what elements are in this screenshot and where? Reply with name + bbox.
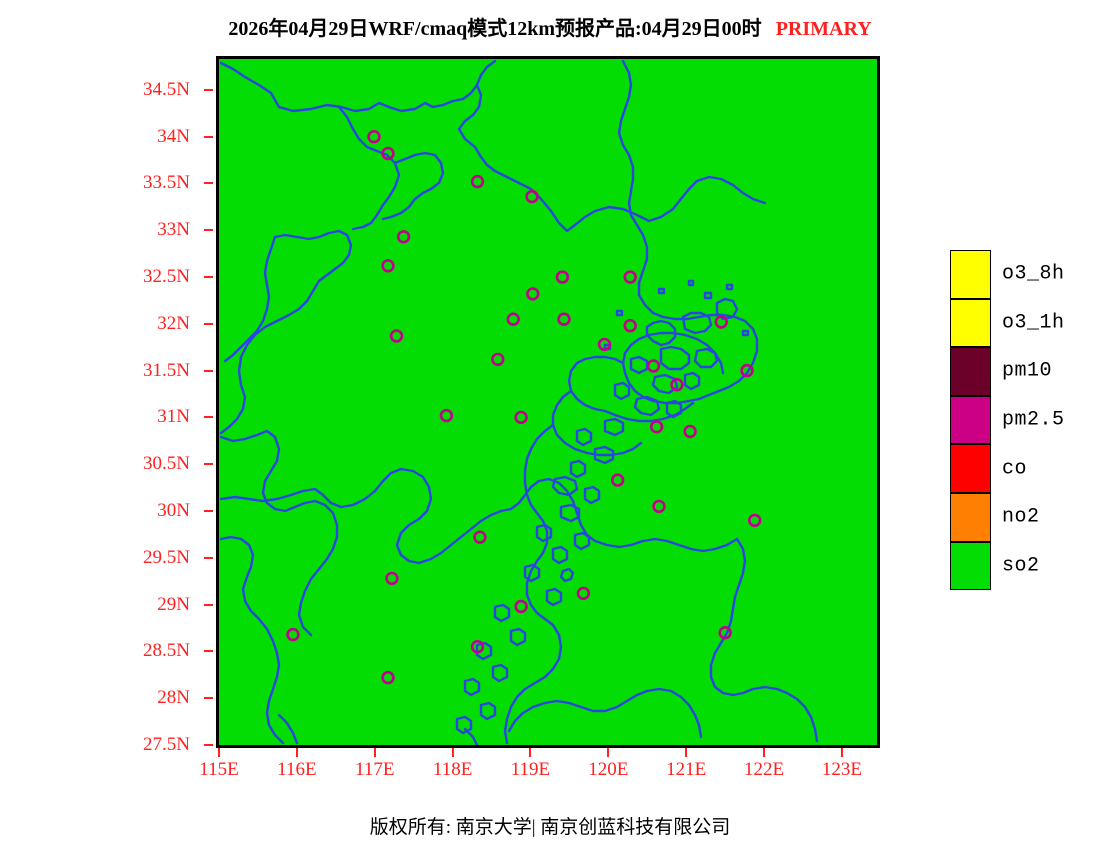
station-marker[interactable]	[516, 412, 527, 423]
page-title-tag: PRIMARY	[776, 18, 872, 40]
station-marker[interactable]	[472, 176, 483, 187]
station-marker[interactable]	[625, 320, 636, 331]
x-axis-tick	[607, 748, 609, 757]
legend-color-swatch	[950, 542, 991, 591]
station-marker[interactable]	[685, 426, 696, 437]
map-canvas	[219, 59, 877, 745]
y-axis-label: 27.5N	[104, 735, 190, 754]
station-marker[interactable]	[383, 672, 394, 683]
x-axis-label: 118E	[413, 760, 493, 779]
y-axis-tick	[204, 229, 213, 231]
station-marker[interactable]	[559, 314, 570, 325]
station-marker[interactable]	[654, 501, 665, 512]
legend-item-so2[interactable]: so2	[950, 542, 1100, 591]
y-axis-tick	[204, 89, 213, 91]
y-axis-label: 30N	[104, 501, 190, 520]
x-axis-tick	[374, 748, 376, 757]
y-axis-tick	[204, 604, 213, 606]
station-marker[interactable]	[508, 314, 519, 325]
station-marker[interactable]	[648, 361, 659, 372]
station-marker[interactable]	[651, 421, 662, 432]
y-axis-label: 31N	[104, 407, 190, 426]
map-plot-area[interactable]	[216, 56, 880, 748]
legend-color-swatch	[950, 396, 991, 445]
legend-color-swatch	[950, 250, 991, 299]
y-axis-tick	[204, 697, 213, 699]
y-axis-tick	[204, 463, 213, 465]
station-marker[interactable]	[516, 601, 527, 612]
station-marker[interactable]	[441, 410, 452, 421]
legend-item-pm10[interactable]: pm10	[950, 347, 1100, 396]
station-marker[interactable]	[288, 629, 299, 640]
station-marker[interactable]	[612, 475, 623, 486]
legend-label: pm2.5	[1002, 409, 1065, 432]
y-axis-label: 34N	[104, 127, 190, 146]
x-axis-label: 116E	[257, 760, 337, 779]
legend-item-o3-8h[interactable]: o3_8h	[950, 250, 1100, 299]
y-axis-tick	[204, 510, 213, 512]
station-marker[interactable]	[383, 260, 394, 271]
y-axis-label: 32.5N	[104, 267, 190, 286]
legend-color-swatch	[950, 444, 991, 493]
legend-color-swatch	[950, 493, 991, 542]
legend-item-o3-1h[interactable]: o3_1h	[950, 299, 1100, 348]
legend-label: so2	[1002, 554, 1040, 577]
y-axis-label: 30.5N	[104, 454, 190, 473]
legend-label: o3_1h	[1002, 311, 1065, 334]
y-axis-tick	[204, 276, 213, 278]
station-marker[interactable]	[391, 331, 402, 342]
y-axis-label: 28.5N	[104, 641, 190, 660]
station-marker[interactable]	[749, 515, 760, 526]
station-marker[interactable]	[625, 272, 636, 283]
forecast-map-page: 2026年04月29日WRF/cmaq模式12km预报产品:04月29日00时P…	[0, 0, 1100, 850]
copyright-footer: 版权所有: 南京大学| 南京创蓝科技有限公司	[0, 812, 1100, 839]
y-axis-label: 29.5N	[104, 548, 190, 567]
station-marker[interactable]	[369, 131, 380, 142]
y-axis-tick	[204, 416, 213, 418]
x-axis-tick	[685, 748, 687, 757]
legend-label: no2	[1002, 506, 1040, 529]
x-axis-label: 121E	[646, 760, 726, 779]
x-axis-tick	[841, 748, 843, 757]
x-axis-label: 123E	[802, 760, 882, 779]
legend-color-swatch	[950, 299, 991, 348]
x-axis-label: 122E	[724, 760, 804, 779]
y-axis-tick	[204, 136, 213, 138]
y-axis-tick	[204, 182, 213, 184]
legend-label: co	[1002, 457, 1027, 480]
y-axis-label: 32N	[104, 314, 190, 333]
legend-color-swatch	[950, 347, 991, 396]
station-marker[interactable]	[527, 191, 538, 202]
y-axis-label: 29N	[104, 595, 190, 614]
legend-item-pm2-5[interactable]: pm2.5	[950, 396, 1100, 445]
y-axis-label: 34.5N	[104, 80, 190, 99]
legend-item-no2[interactable]: no2	[950, 493, 1100, 542]
station-marker[interactable]	[492, 354, 503, 365]
page-title: 2026年04月29日WRF/cmaq模式12km预报产品:04月29日00时P…	[0, 12, 1100, 41]
x-axis-label: 119E	[490, 760, 570, 779]
x-axis-label: 115E	[179, 760, 259, 779]
x-axis-tick	[218, 748, 220, 757]
x-axis-tick	[452, 748, 454, 757]
geographic-boundaries	[221, 61, 817, 745]
page-title-main: 2026年04月29日WRF/cmaq模式12km预报产品:04月29日00时	[228, 18, 761, 40]
legend-item-co[interactable]: co	[950, 444, 1100, 493]
y-axis-tick	[204, 557, 213, 559]
y-axis-label: 31.5N	[104, 361, 190, 380]
station-marker[interactable]	[387, 573, 398, 584]
x-axis-tick	[763, 748, 765, 757]
y-axis-label: 33.5N	[104, 173, 190, 192]
y-axis-tick	[204, 744, 213, 746]
x-axis-tick	[296, 748, 298, 757]
legend-label: pm10	[1002, 360, 1052, 383]
x-axis-label: 117E	[335, 760, 415, 779]
station-marker[interactable]	[475, 532, 486, 543]
x-axis-label: 120E	[568, 760, 648, 779]
x-axis-tick	[529, 748, 531, 757]
y-axis-tick	[204, 370, 213, 372]
station-marker[interactable]	[527, 289, 538, 300]
y-axis-tick	[204, 650, 213, 652]
pollutant-legend: o3_8ho3_1hpm10pm2.5cono2so2	[950, 250, 1100, 596]
y-axis-tick	[204, 323, 213, 325]
legend-label: o3_8h	[1002, 263, 1065, 286]
station-marker[interactable]	[398, 231, 409, 242]
y-axis-label: 28N	[104, 688, 190, 707]
station-marker[interactable]	[557, 272, 568, 283]
y-axis-label: 33N	[104, 220, 190, 239]
station-marker[interactable]	[578, 588, 589, 599]
